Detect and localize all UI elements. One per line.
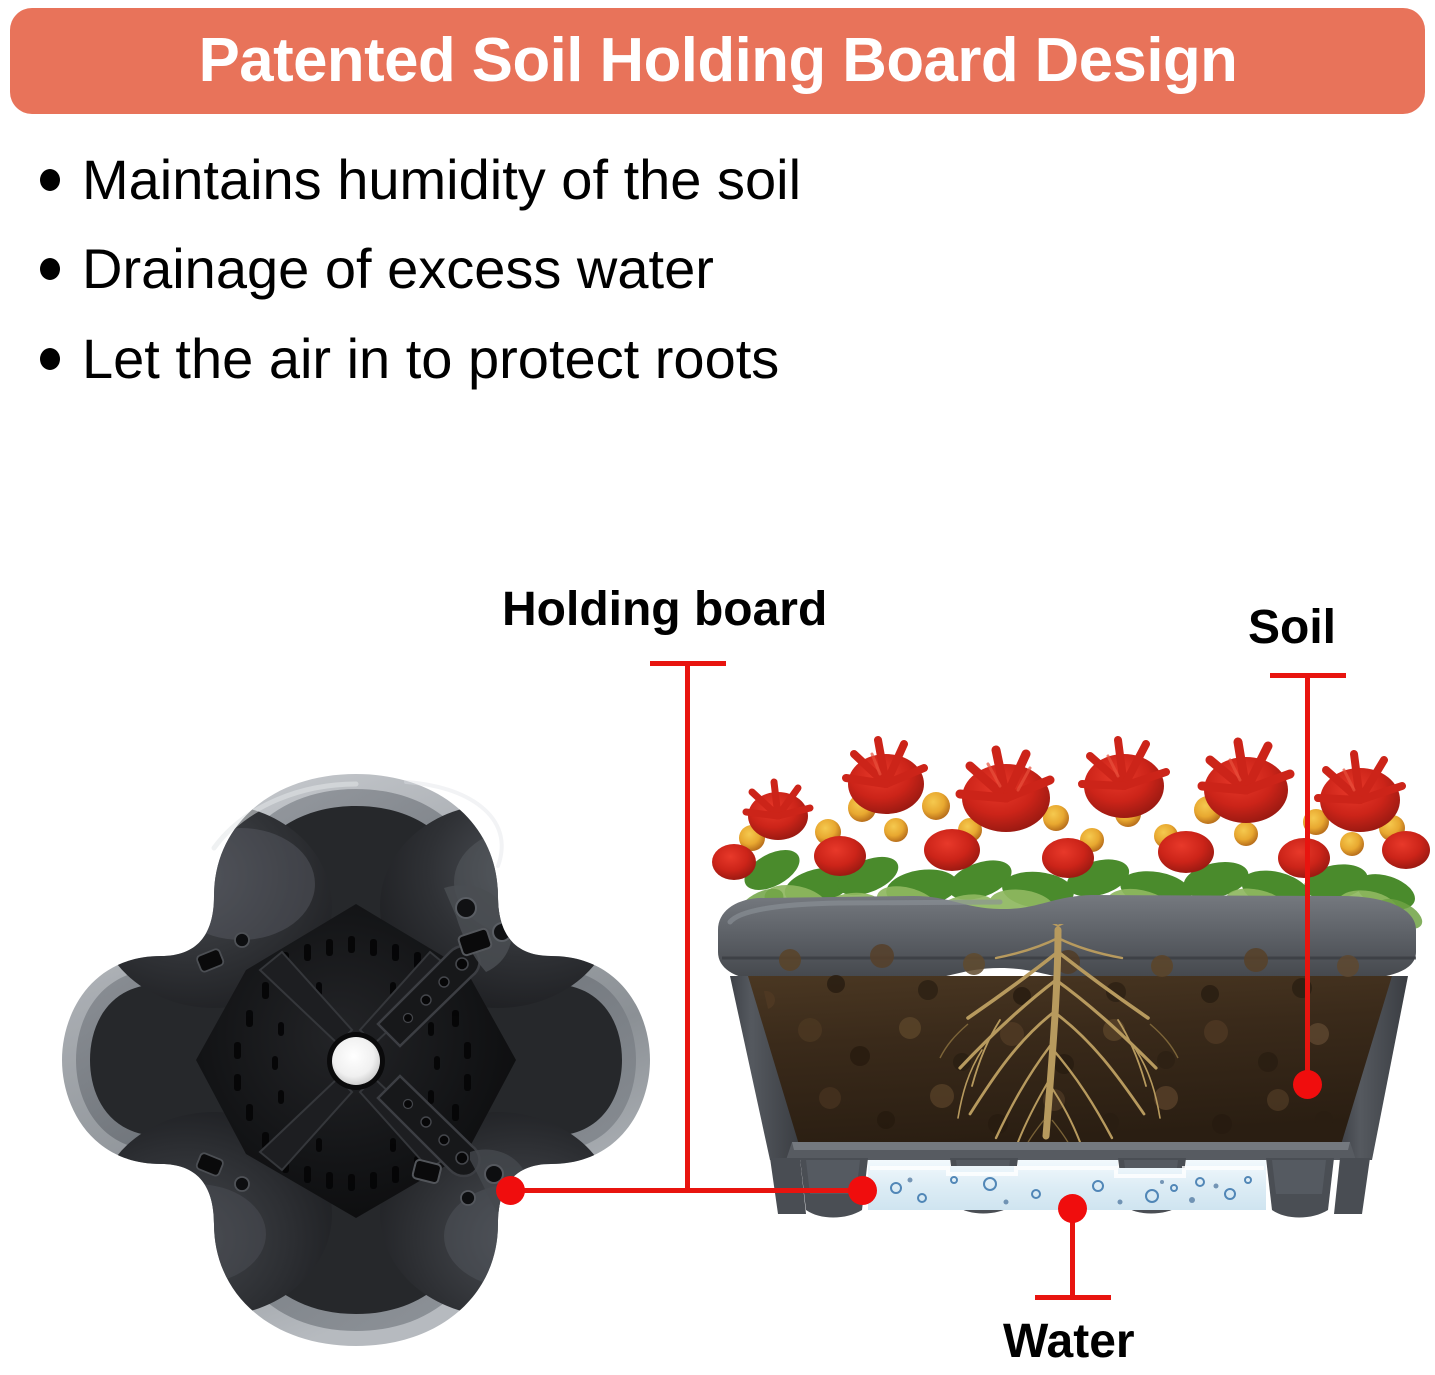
callout-label-holding-board: Holding board — [502, 586, 827, 634]
bullet-dot-icon — [40, 169, 60, 191]
bullet-dot-icon — [40, 348, 60, 370]
header-banner: Patented Soil Holding Board Design — [10, 8, 1425, 114]
list-item: Let the air in to protect roots — [40, 329, 1140, 388]
callout-label-water: Water — [1003, 1318, 1135, 1366]
bullet-dot-icon — [40, 258, 60, 280]
holding-board-marker-right — [848, 1176, 877, 1205]
feature-list: Maintains humidity of the soil Drainage … — [40, 150, 1140, 418]
infographic-canvas: Patented Soil Holding Board Design Maint… — [0, 0, 1435, 1375]
callout-label-soil: Soil — [1248, 604, 1336, 652]
page-title: Patented Soil Holding Board Design — [198, 30, 1237, 92]
feature-text: Maintains humidity of the soil — [82, 150, 801, 209]
holding-board-leader-stem — [685, 661, 690, 1191]
red-chrysanthemum-flowers — [712, 740, 1430, 880]
soil-marker — [1293, 1070, 1322, 1099]
list-item: Drainage of excess water — [40, 239, 1140, 298]
holding-board-leader-horizontal — [510, 1188, 865, 1193]
feature-text: Let the air in to protect roots — [82, 329, 779, 388]
list-item: Maintains humidity of the soil — [40, 150, 1140, 209]
feature-text: Drainage of excess water — [82, 239, 714, 298]
soil-leader-stem — [1305, 673, 1310, 1085]
water-marker — [1058, 1194, 1087, 1223]
soil-holding-board-photo — [46, 756, 666, 1364]
holding-board-marker-left — [496, 1176, 525, 1205]
